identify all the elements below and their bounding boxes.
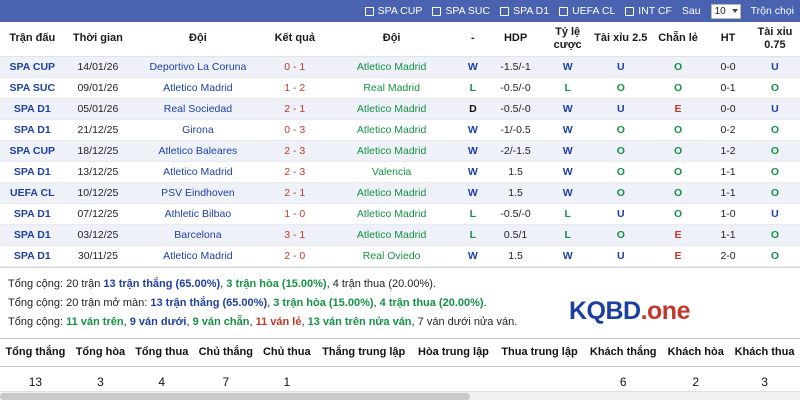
cell-home-team[interactable]: Barcelona	[131, 224, 264, 245]
stats-header-away-win: Khách thắng	[584, 339, 662, 367]
col-header-away-team: Đội	[325, 22, 458, 56]
cell-time: 13/12/25	[65, 161, 132, 182]
cell-score: 2 - 3	[265, 161, 325, 182]
cell-league: SPA D1	[0, 119, 65, 140]
cell-away-team[interactable]: Valencia	[325, 161, 458, 182]
col-header-ou25: Tài xỉu 2.5	[592, 22, 650, 56]
cell-result: W	[458, 119, 487, 140]
cell-result: W	[458, 161, 487, 182]
match-count-value: 10	[715, 6, 726, 17]
filter-checkbox-uefa-cl[interactable]: UEFA CL	[559, 6, 615, 17]
cell-away-team[interactable]: Real Oviedo	[325, 245, 458, 266]
table-row[interactable]: SPA CUP 18/12/25 Atletico Baleares 2 - 3…	[0, 140, 800, 161]
cell-ou075: U	[750, 98, 800, 119]
cell-ou075: U	[750, 203, 800, 224]
stats-table: Tổng thắng Tổng hòa Tổng thua Chủ thắng …	[0, 338, 800, 398]
cell-hdp: -0.5/-0	[487, 77, 543, 98]
cell-league: SPA D1	[0, 203, 65, 224]
cell-ht: 1-1	[706, 161, 750, 182]
cell-odds-result: L	[544, 203, 592, 224]
cell-result: W	[458, 56, 487, 77]
stats-header-row: Tổng thắng Tổng hòa Tổng thua Chủ thắng …	[0, 339, 800, 367]
col-header-home-team: Đội	[131, 22, 264, 56]
summary-line1-prefix: Tổng cộng: 20 trận	[8, 278, 100, 290]
filter-checkbox-spa-suc[interactable]: SPA SUC	[432, 6, 490, 17]
table-row[interactable]: SPA D1 21/12/25 Girona 0 - 3 Atletico Ma…	[0, 119, 800, 140]
checkbox-icon[interactable]	[500, 7, 509, 16]
scrollbar-thumb[interactable]	[0, 393, 470, 400]
checkbox-icon[interactable]	[559, 7, 568, 16]
cell-odd-even: O	[650, 119, 706, 140]
stats-header-neutral-loss: Thua trung lập	[495, 339, 584, 367]
cell-away-team[interactable]: Atletico Madrid	[325, 119, 458, 140]
cell-away-team[interactable]: Atletico Madrid	[325, 140, 458, 161]
cell-league: SPA D1	[0, 224, 65, 245]
cell-ou25: U	[592, 56, 650, 77]
cell-time: 07/12/25	[65, 203, 132, 224]
checkbox-icon[interactable]	[432, 7, 441, 16]
summary-odd: 11 ván lẻ	[256, 316, 302, 328]
col-header-time: Thời gian	[65, 22, 132, 56]
summary-even: 9 ván chẵn	[193, 316, 250, 328]
cell-ht: 1-0	[706, 203, 750, 224]
cell-away-team[interactable]: Atletico Madrid	[325, 98, 458, 119]
cell-score: 2 - 1	[265, 98, 325, 119]
cell-result: L	[458, 203, 487, 224]
table-row[interactable]: SPA D1 30/11/25 Atletico Madrid 2 - 0 Re…	[0, 245, 800, 266]
cell-home-team[interactable]: PSV Eindhoven	[131, 182, 264, 203]
col-header-odds: Tỷ lệ cược	[544, 22, 592, 56]
cell-away-team[interactable]: Atletico Madrid	[325, 224, 458, 245]
cell-ou075: O	[750, 161, 800, 182]
cell-odds-result: W	[544, 119, 592, 140]
cell-odds-result: W	[544, 245, 592, 266]
cell-hdp: -0.5/-0	[487, 98, 543, 119]
cell-hdp: -0.5/-0	[487, 203, 543, 224]
table-row[interactable]: SPA CUP 14/01/26 Deportivo La Coruna 0 -…	[0, 56, 800, 77]
cell-odds-result: L	[544, 77, 592, 98]
cell-time: 03/12/25	[65, 224, 132, 245]
stats-header-total-loss: Tổng thua	[130, 339, 193, 367]
col-header-score: Kết quả	[265, 22, 325, 56]
cell-result: L	[458, 224, 487, 245]
cell-score: 1 - 2	[265, 77, 325, 98]
cell-time: 09/01/26	[65, 77, 132, 98]
cell-league: SPA D1	[0, 161, 65, 182]
cell-ou075: U	[750, 56, 800, 77]
col-header-odd-even: Chẵn lẻ	[650, 22, 706, 56]
cell-hdp: -1/-0.5	[487, 119, 543, 140]
cell-ou25: U	[592, 98, 650, 119]
stats-header-neutral-win: Thắng trung lập	[315, 339, 412, 367]
chevron-down-icon	[732, 9, 738, 13]
summary-line2-draws: 3 trận hòa (15.00%)	[273, 297, 373, 309]
cell-ou075: O	[750, 224, 800, 245]
cell-result: W	[458, 182, 487, 203]
stats-header-home-loss: Chủ thua	[258, 339, 315, 367]
checkbox-icon[interactable]	[365, 7, 374, 16]
cell-score: 0 - 1	[265, 56, 325, 77]
cell-odd-even: O	[650, 56, 706, 77]
table-row[interactable]: SPA D1 05/01/26 Real Sociedad 2 - 1 Atle…	[0, 98, 800, 119]
matches-table: Trận đấu Thời gian Đội Kết quả Đội - HDP…	[0, 22, 800, 267]
cell-odd-even: E	[650, 245, 706, 266]
cell-ou075: O	[750, 245, 800, 266]
cell-away-team[interactable]: Real Madrid	[325, 77, 458, 98]
cell-result: W	[458, 245, 487, 266]
stats-header-home-win: Chủ thắng	[193, 339, 258, 367]
cell-league: UEFA CL	[0, 182, 65, 203]
cell-score: 2 - 3	[265, 140, 325, 161]
cell-result: D	[458, 98, 487, 119]
summary-block: Tổng cộng: 20 trận 13 trận thắng (65.00%…	[0, 267, 800, 337]
col-header-dash: -	[458, 22, 487, 56]
cell-home-team[interactable]: Atletico Baleares	[131, 140, 264, 161]
cell-league: SPA CUP	[0, 140, 65, 161]
cell-result: L	[458, 77, 487, 98]
cell-score: 2 - 0	[265, 245, 325, 266]
cell-hdp: -1.5/-1	[487, 56, 543, 77]
cell-odd-even: O	[650, 140, 706, 161]
cell-away-team[interactable]: Atletico Madrid	[325, 56, 458, 77]
cell-ht: 1-1	[706, 224, 750, 245]
cell-score: 2 - 1	[265, 182, 325, 203]
table-row[interactable]: SPA D1 07/12/25 Athletic Bilbao 1 - 0 At…	[0, 203, 800, 224]
cell-ou075: O	[750, 77, 800, 98]
stats-header-away-draw: Khách hòa	[662, 339, 729, 367]
cell-odds-result: W	[544, 140, 592, 161]
cell-ou25: O	[592, 140, 650, 161]
col-header-league: Trận đấu	[0, 22, 65, 56]
filter-bar: SPA CUP SPA SUC SPA D1 UEFA CL INT CF Sa…	[0, 0, 800, 22]
cell-ht: 0-0	[706, 98, 750, 119]
stats-header-total-draw: Tổng hòa	[71, 339, 130, 367]
cell-time: 30/11/25	[65, 245, 132, 266]
summary-over: 11 ván trên	[66, 316, 123, 328]
summary-line2-wins: 13 trận thắng (65.00%)	[150, 297, 267, 309]
cell-hdp: 1.5	[487, 161, 543, 182]
cell-league: SPA D1	[0, 245, 65, 266]
stats-header-neutral-draw: Hòa trung lập	[412, 339, 495, 367]
cell-time: 14/01/26	[65, 56, 132, 77]
summary-line1-losses: 4 trận thua (20.00%)	[333, 278, 433, 290]
cell-home-team[interactable]: Atletico Madrid	[131, 245, 264, 266]
after-label: Sau	[682, 5, 701, 17]
cell-odd-even: O	[650, 161, 706, 182]
cell-hdp: 1.5	[487, 182, 543, 203]
filter-label: INT CF	[638, 6, 672, 17]
summary-line1-wins: 13 trận thắng (65.00%)	[103, 278, 220, 290]
cell-score: 1 - 0	[265, 203, 325, 224]
table-row[interactable]: UEFA CL 10/12/25 PSV Eindhoven 2 - 1 Atl…	[0, 182, 800, 203]
cell-ou25: O	[592, 161, 650, 182]
col-header-ht: HT	[706, 22, 750, 56]
summary-over-half: 13 ván trên nửa ván	[308, 316, 412, 328]
cell-ht: 0-0	[706, 56, 750, 77]
filter-checkbox-spa-cup[interactable]: SPA CUP	[365, 6, 423, 17]
match-count-select[interactable]: 10	[711, 4, 741, 19]
cell-score: 3 - 1	[265, 224, 325, 245]
table-row[interactable]: SPA D1 03/12/25 Barcelona 3 - 1 Atletico…	[0, 224, 800, 245]
filter-label: UEFA CL	[572, 6, 615, 17]
cell-odd-even: E	[650, 98, 706, 119]
cell-home-team[interactable]: Girona	[131, 119, 264, 140]
cell-ou25: O	[592, 77, 650, 98]
choose-label[interactable]: Trộn chọi	[751, 5, 794, 17]
table-header-row: Trận đấu Thời gian Đội Kết quả Đội - HDP…	[0, 22, 800, 56]
col-header-hdp: HDP	[487, 22, 543, 56]
cell-odds-result: W	[544, 182, 592, 203]
cell-away-team[interactable]: Atletico Madrid	[325, 203, 458, 224]
cell-league: SPA SUC	[0, 77, 65, 98]
cell-odd-even: O	[650, 77, 706, 98]
horizontal-scrollbar[interactable]	[0, 391, 800, 400]
cell-home-team[interactable]: Athletic Bilbao	[131, 203, 264, 224]
cell-ou075: O	[750, 140, 800, 161]
cell-ou25: U	[592, 203, 650, 224]
summary-line2-prefix: Tổng cộng: 20 trận mở màn:	[8, 297, 147, 309]
cell-time: 10/12/25	[65, 182, 132, 203]
cell-ht: 1-2	[706, 140, 750, 161]
cell-ht: 2-0	[706, 245, 750, 266]
cell-time: 21/12/25	[65, 119, 132, 140]
summary-under: 9 ván dưới	[130, 316, 187, 328]
cell-odds-result: W	[544, 56, 592, 77]
cell-ou25: O	[592, 182, 650, 203]
cell-league: SPA D1	[0, 98, 65, 119]
table-row[interactable]: SPA D1 13/12/25 Atletico Madrid 2 - 3 Va…	[0, 161, 800, 182]
stats-header-away-loss: Khách thua	[729, 339, 800, 367]
cell-ou25: O	[592, 119, 650, 140]
summary-line3-prefix: Tổng cộng:	[8, 316, 63, 328]
cell-time: 05/01/26	[65, 98, 132, 119]
cell-ou075: O	[750, 182, 800, 203]
cell-home-team[interactable]: Atletico Madrid	[131, 77, 264, 98]
cell-league: SPA CUP	[0, 56, 65, 77]
cell-score: 0 - 3	[265, 119, 325, 140]
site-logo: KQBD.one	[569, 290, 690, 334]
cell-odd-even: E	[650, 224, 706, 245]
col-header-ou075: Tài xỉu 0.75	[750, 22, 800, 56]
stats-header-total-win: Tổng thắng	[0, 339, 71, 367]
cell-ht: 0-2	[706, 119, 750, 140]
cell-ht: 1-1	[706, 182, 750, 203]
cell-ht: 0-1	[706, 77, 750, 98]
cell-result: W	[458, 140, 487, 161]
cell-hdp: -2/-1.5	[487, 140, 543, 161]
summary-line1-draws: 3 trận hòa (15.00%)	[226, 278, 326, 290]
summary-line2-losses: 4 trận thua (20.00%)	[380, 297, 484, 309]
filter-label: SPA CUP	[378, 6, 423, 17]
cell-time: 18/12/25	[65, 140, 132, 161]
cell-odds-result: W	[544, 161, 592, 182]
cell-ou25: U	[592, 245, 650, 266]
checkbox-icon[interactable]	[625, 7, 634, 16]
cell-odd-even: O	[650, 182, 706, 203]
table-row[interactable]: SPA SUC 09/01/26 Atletico Madrid 1 - 2 R…	[0, 77, 800, 98]
cell-odds-result: W	[544, 98, 592, 119]
filter-checkbox-spa-d1[interactable]: SPA D1	[500, 6, 549, 17]
logo-text-main: KQBD	[569, 297, 641, 325]
cell-ou25: O	[592, 224, 650, 245]
cell-odd-even: O	[650, 203, 706, 224]
cell-hdp: 0.5/1	[487, 224, 543, 245]
cell-hdp: 1.5	[487, 245, 543, 266]
cell-ou075: O	[750, 119, 800, 140]
summary-under-half: 7 ván dưới nửa ván	[418, 316, 515, 328]
cell-away-team[interactable]: Atletico Madrid	[325, 182, 458, 203]
cell-home-team[interactable]: Atletico Madrid	[131, 161, 264, 182]
filter-checkbox-int-cf[interactable]: INT CF	[625, 6, 672, 17]
matches-table-body: SPA CUP 14/01/26 Deportivo La Coruna 0 -…	[0, 56, 800, 266]
filter-label: SPA D1	[513, 6, 549, 17]
filter-label: SPA SUC	[445, 6, 490, 17]
logo-text-suffix: .one	[641, 297, 690, 325]
page-root: SPA CUP SPA SUC SPA D1 UEFA CL INT CF Sa…	[0, 0, 800, 400]
cell-odds-result: L	[544, 224, 592, 245]
cell-home-team[interactable]: Deportivo La Coruna	[131, 56, 264, 77]
cell-home-team[interactable]: Real Sociedad	[131, 98, 264, 119]
